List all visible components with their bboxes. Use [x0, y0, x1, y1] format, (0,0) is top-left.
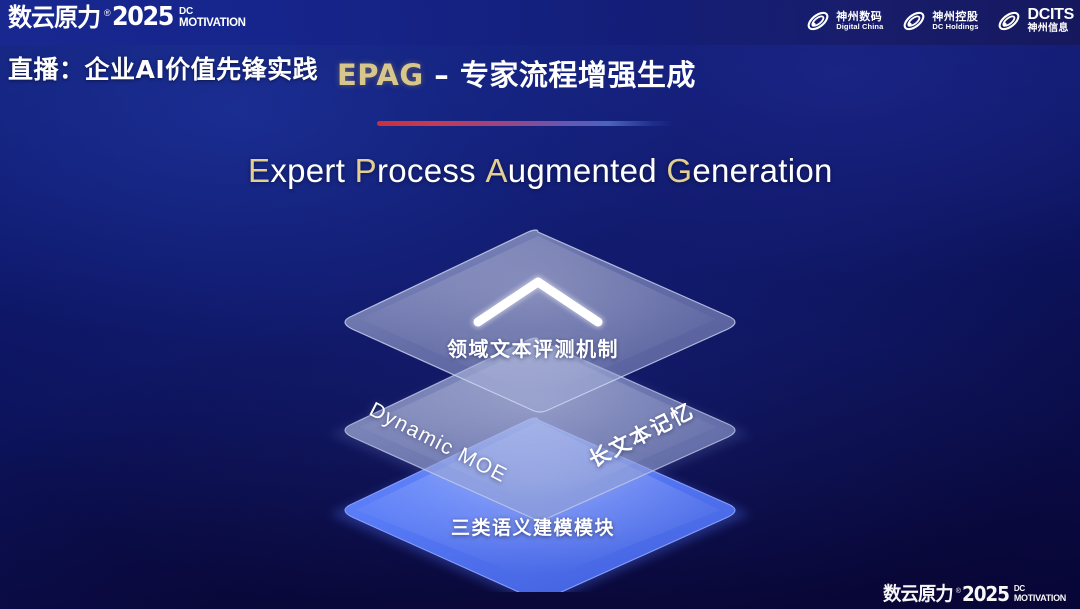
- watermark-name-cn: 数云原力: [883, 585, 953, 604]
- partner-name-cn: 神州信息: [1027, 24, 1074, 35]
- partner-logos: 神州数码 Digital China 神州控股 DC Holdings: [805, 7, 1074, 35]
- watermark-dc-motivation: DC MOTIVATION: [1014, 585, 1066, 603]
- watermark-registered-mark: ®: [956, 588, 961, 595]
- english-word-rest: rocess: [377, 152, 476, 189]
- brand-dc-line2: MOTIVATION: [179, 18, 245, 30]
- english-word-rest: xpert: [270, 152, 345, 189]
- brand-name-cn: 数云原力: [8, 5, 100, 30]
- brand-dc-line1: DC: [179, 7, 245, 17]
- gradient-divider: [377, 121, 674, 126]
- partner-dcits: DCITS 神州信息: [996, 7, 1074, 35]
- title-subtitle-cn: 专家流程增强生成: [460, 58, 696, 92]
- swirl-logo-icon: [901, 8, 927, 34]
- english-word-rest: ugmented: [508, 152, 657, 189]
- watermark-dc-line2: MOTIVATION: [1014, 594, 1066, 603]
- layer-top: [345, 230, 735, 412]
- partner-name-en: Digital China: [836, 23, 883, 31]
- partner-name-cn: 神州数码: [836, 11, 883, 23]
- english-word-cap: E: [248, 152, 270, 189]
- title-separator: –: [424, 58, 460, 92]
- partner-name-en: DC Holdings: [932, 23, 978, 31]
- swirl-logo-icon: [996, 8, 1022, 34]
- partner-dc-holdings: 神州控股 DC Holdings: [901, 8, 978, 34]
- watermark-year: 2025: [962, 584, 1009, 604]
- english-word-cap: P: [355, 152, 377, 189]
- english-word-rest: eneration: [692, 152, 832, 189]
- brand-dc-motivation: DC MOTIVATION: [179, 7, 245, 30]
- title-acronym: EPAG: [337, 58, 424, 92]
- watermark-logo: 数云原力 ® 2025 DC MOTIVATION: [883, 584, 1066, 604]
- partner-name-cn: 神州控股: [932, 11, 978, 23]
- layer-stack-diagram: [280, 222, 800, 592]
- partner-digital-china: 神州数码 Digital China: [805, 8, 883, 34]
- english-word-cap: G: [666, 152, 692, 189]
- brand-registered-mark: ®: [104, 8, 111, 18]
- live-stream-title: 直播：企业AI价值先锋实践: [8, 50, 318, 86]
- english-word-cap: A: [485, 152, 507, 189]
- slide-canvas: 数云原力 ® 2025 DC MOTIVATION 直播：企业AI价值先锋实践 …: [0, 0, 1080, 609]
- watermark-dc-line1: DC: [1014, 585, 1066, 593]
- swirl-logo-icon: [805, 8, 831, 34]
- brand-year: 2025: [112, 4, 173, 30]
- brand-logo: 数云原力 ® 2025 DC MOTIVATION: [8, 4, 246, 30]
- partner-name-en: DCITS: [1027, 7, 1074, 23]
- english-title: Expert Process Augmented Generation: [248, 152, 833, 190]
- page-title: EPAG – 专家流程增强生成: [337, 52, 696, 94]
